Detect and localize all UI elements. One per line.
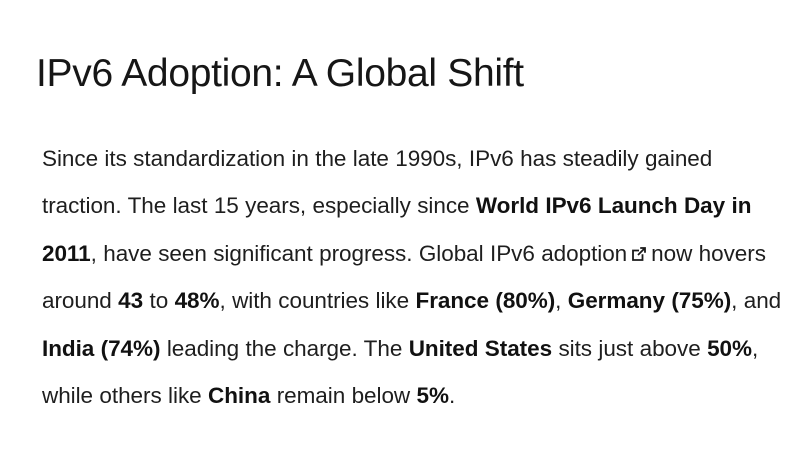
page-title: IPv6 Adoption: A Global Shift	[36, 48, 524, 100]
emphasis-43: 43	[118, 288, 143, 313]
paragraph-text-segment-4: to	[143, 288, 174, 313]
article-paragraph: Since its standardization in the late 19…	[42, 135, 782, 420]
paragraph-text-segment-8: leading the charge. The	[160, 336, 408, 361]
emphasis-china: China	[208, 383, 270, 408]
emphasis-united-states: United States	[409, 336, 552, 361]
paragraph-text-segment-5: , with countries like	[219, 288, 415, 313]
external-link-icon[interactable]	[630, 245, 648, 263]
emphasis-5-percent: 5%	[417, 383, 449, 408]
paragraph-text-segment-6: ,	[555, 288, 568, 313]
emphasis-india: India (74%)	[42, 336, 160, 361]
emphasis-50-percent: 50%	[707, 336, 752, 361]
paragraph-text-segment-9: sits just above	[552, 336, 707, 361]
paragraph-text-segment-12: .	[449, 383, 455, 408]
emphasis-france: France (80%)	[416, 288, 556, 313]
document-page: IPv6 Adoption: A Global Shift Since its …	[0, 0, 800, 450]
emphasis-48-percent: 48%	[175, 288, 220, 313]
paragraph-text-segment-7: , and	[731, 288, 781, 313]
paragraph-text-segment-11: remain below	[270, 383, 416, 408]
emphasis-germany: Germany (75%)	[568, 288, 731, 313]
paragraph-text-segment-2: , have seen significant progress. Global…	[91, 241, 628, 266]
